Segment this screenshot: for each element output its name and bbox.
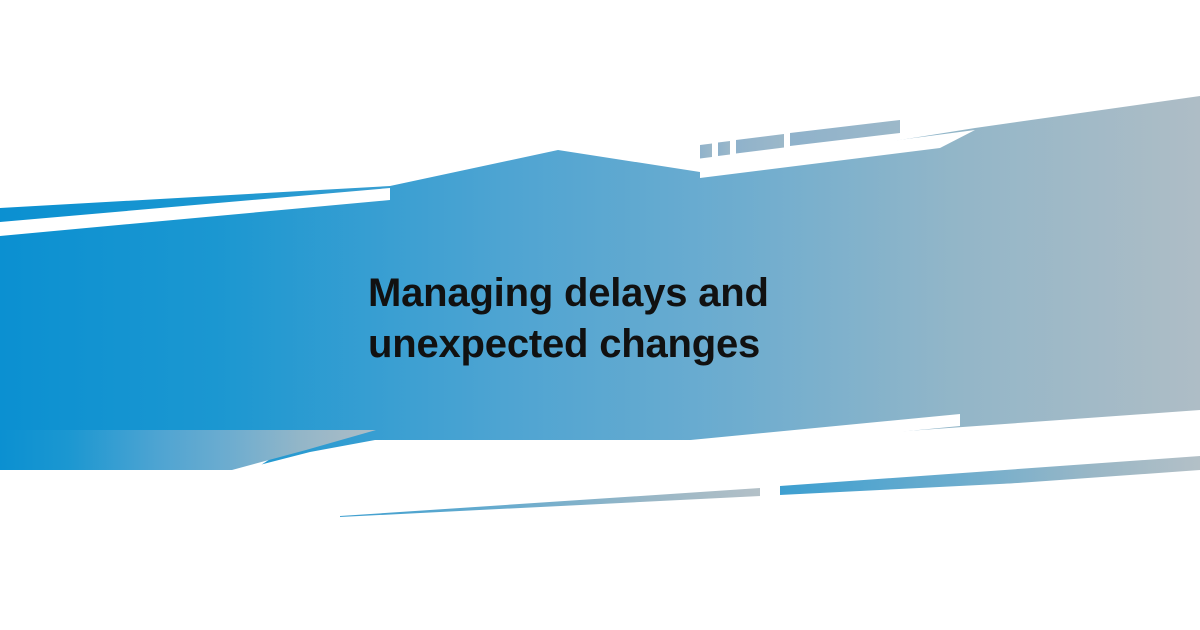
banner-background [0,0,1200,630]
top-dash-1 [700,144,712,159]
top-dash-2 [718,141,730,156]
banner: Managing delays and unexpected changes [0,0,1200,630]
